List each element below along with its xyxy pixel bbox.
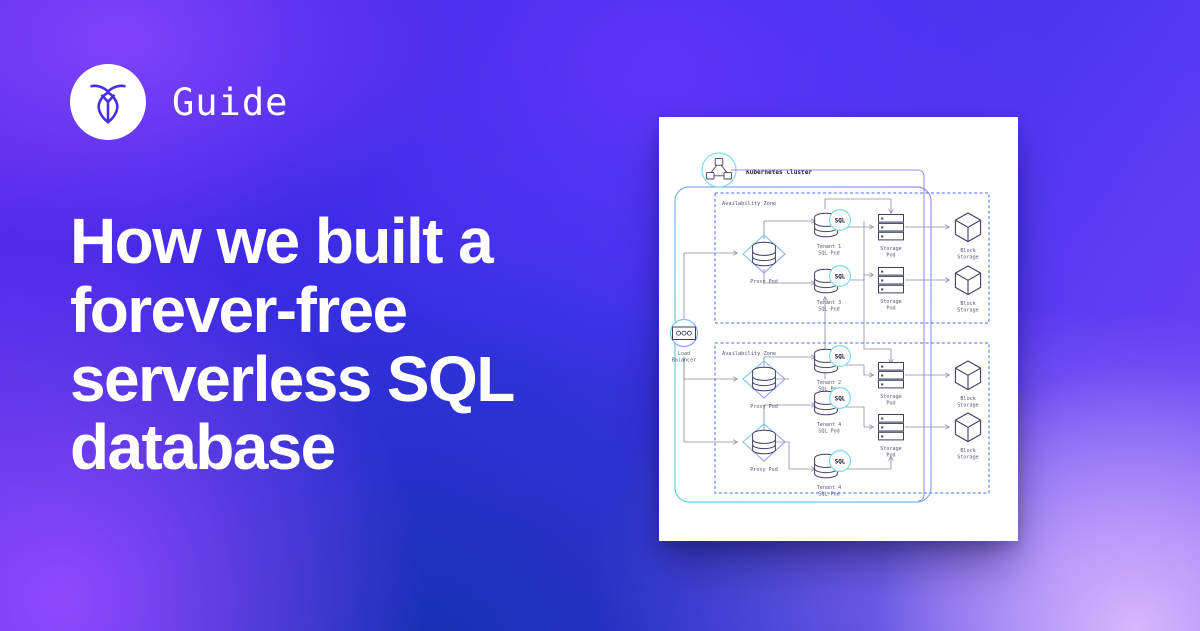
block-storage-node[interactable]: Block Storage (955, 413, 980, 461)
block-storage-label-2: Storage (957, 255, 978, 261)
storage-pod-node[interactable]: Storage Pod (879, 415, 904, 459)
architecture-diagram: Kubernetes Cluster Availability Zone Ava… (659, 117, 1018, 541)
block-storage-label-2: Storage (957, 403, 978, 409)
tenant-label-1: Tenant 3 (817, 300, 842, 306)
tenant-label-1: Tenant 2 (817, 380, 842, 386)
block-storage-label-1: Block (960, 248, 975, 254)
tenant-sql-pod-node[interactable]: SQL Tenant 4 SQL Pod (815, 388, 851, 435)
proxy-pod-label: Proxy Pod (750, 279, 778, 285)
tenant-sql-pod-node[interactable]: SQL Tenant 4 SQL Pod (815, 451, 851, 498)
block-storage-node[interactable]: Block Storage (955, 213, 980, 261)
sql-badge: SQL (835, 459, 846, 466)
availability-zone-2-label: Availability Zone (722, 351, 776, 357)
block-storage-label-1: Block (960, 396, 975, 402)
storage-pod-label-1: Storage (880, 394, 901, 400)
block-storage-node[interactable]: Block Storage (955, 266, 980, 314)
proxy-pod-node[interactable]: Proxy Pod (743, 361, 785, 410)
storage-pod-label-1: Storage (880, 299, 901, 305)
sql-badge: SQL (835, 354, 846, 361)
block-storage-label-2: Storage (957, 308, 978, 314)
tenant-label-2: SQL Pod (818, 307, 839, 313)
page-title: How we built a forever-free serverless S… (70, 207, 610, 482)
tenant-sql-pod-node[interactable]: SQL Tenant 2 SQL Pod (815, 346, 851, 393)
kubernetes-cluster-icon (702, 153, 736, 187)
brand-block: Guide (70, 64, 288, 140)
kicker-label: Guide (172, 81, 288, 124)
sql-badge: SQL (835, 218, 846, 225)
tenant-label-1: Tenant 1 (817, 244, 842, 250)
storage-pod-label-1: Storage (880, 246, 901, 252)
headline-line-3: serverless SQL (70, 345, 610, 414)
cockroachdb-logo-icon (82, 76, 134, 128)
connector-lines (684, 199, 949, 469)
hero-left-column: Guide How we built a forever-free server… (0, 0, 640, 631)
storage-pod-node[interactable]: Storage Pod (879, 363, 904, 407)
headline-line-4: database (70, 413, 610, 482)
load-balancer-node[interactable]: Load Balancer (671, 320, 698, 364)
proxy-pod-node[interactable]: Proxy Pod (743, 424, 785, 473)
block-storage-label-2: Storage (957, 455, 978, 461)
logo-badge (70, 64, 146, 140)
proxy-pod-label: Proxy Pod (750, 467, 778, 473)
availability-zone-1-label: Availability Zone (722, 201, 776, 207)
headline-line-2: forever-free (70, 276, 610, 345)
tenant-sql-pod-node[interactable]: SQL Tenant 3 SQL Pod (815, 266, 851, 313)
storage-pod-label-2: Pod (886, 306, 895, 312)
tenant-label-1: Tenant 4 (817, 422, 842, 428)
headline-line-1: How we built a (70, 207, 610, 276)
tenant-label-2: SQL Pod (818, 251, 839, 257)
tenant-sql-pod-node[interactable]: SQL Tenant 1 SQL Pod (815, 210, 851, 257)
load-balancer-label-2: Balancer (672, 358, 697, 364)
sql-badge: SQL (835, 274, 846, 281)
block-storage-label-1: Block (960, 301, 975, 307)
storage-pod-label-2: Pod (886, 253, 895, 259)
sql-badge: SQL (835, 396, 846, 403)
storage-pod-node[interactable]: Storage Pod (879, 268, 904, 312)
block-storage-label-1: Block (960, 448, 975, 454)
storage-pod-label-2: Pod (886, 453, 895, 459)
block-storage-node[interactable]: Block Storage (955, 361, 980, 409)
storage-pod-node[interactable]: Storage Pod (879, 215, 904, 259)
proxy-pod-label: Proxy Pod (750, 404, 778, 410)
architecture-diagram-card: Kubernetes Cluster Availability Zone Ava… (659, 117, 1018, 541)
storage-pod-label-1: Storage (880, 446, 901, 452)
load-balancer-label-1: Load (678, 351, 690, 357)
tenant-label-2: SQL Pod (818, 492, 839, 498)
tenant-label-2: SQL Pod (818, 429, 839, 435)
storage-pod-label-2: Pod (886, 401, 895, 407)
tenant-label-1: Tenant 4 (817, 485, 842, 491)
